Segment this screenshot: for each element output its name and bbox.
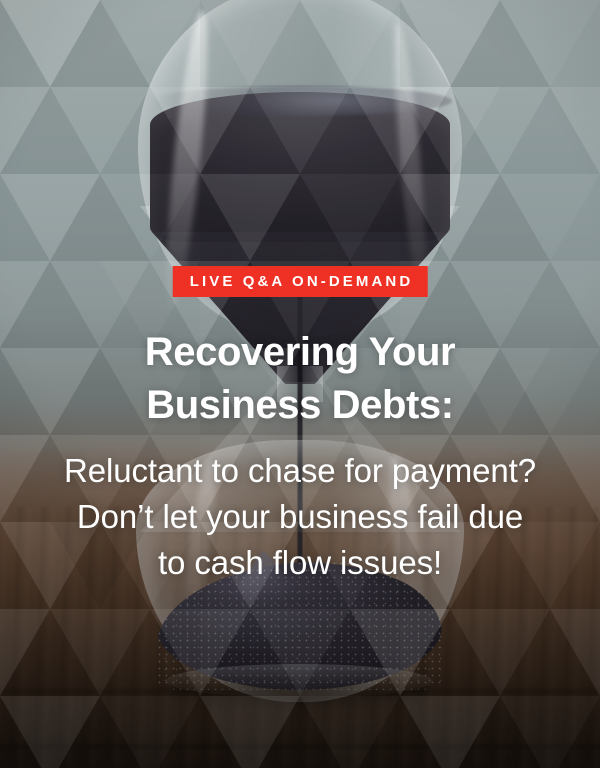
subheadline-line-3: to cash flow issues! <box>0 540 600 586</box>
live-qa-badge: LIVE Q&A ON-DEMAND <box>173 266 428 297</box>
headline: Recovering Your Business Debts: <box>0 326 600 432</box>
subheadline-line-1: Reluctant to chase for payment? <box>0 448 600 494</box>
promo-content: LIVE Q&A ON-DEMAND Recovering Your Busin… <box>0 0 600 768</box>
subheadline-line-2: Don’t let your business fail due <box>0 494 600 540</box>
headline-line-1: Recovering Your <box>0 326 600 379</box>
subheadline: Reluctant to chase for payment? Don’t le… <box>0 448 600 587</box>
promo-card: LIVE Q&A ON-DEMAND Recovering Your Busin… <box>0 0 600 768</box>
headline-line-2: Business Debts: <box>0 379 600 432</box>
